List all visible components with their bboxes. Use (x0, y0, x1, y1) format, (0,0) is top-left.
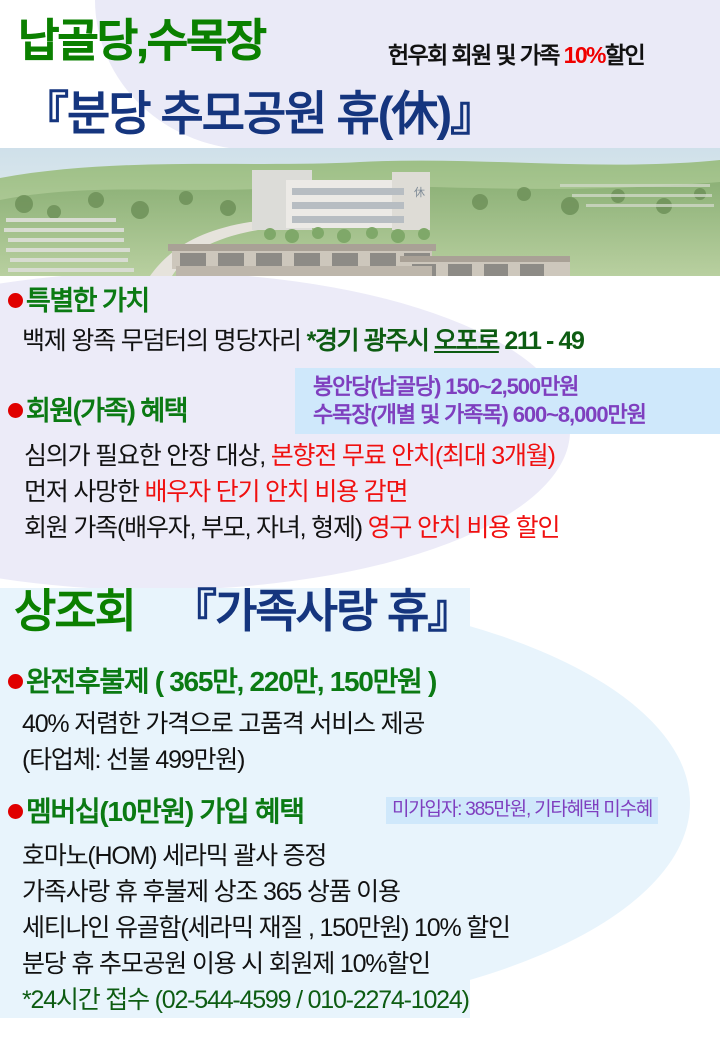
member-benefits-heading-row: 회원(가족) 혜택 (8, 398, 187, 425)
membership-heading-row: 멤버십(10만원) 가입 혜택 (8, 798, 304, 826)
membership-line: 세티나인 유골함(세라믹 재질 , 150만원) 10% 할인 (22, 912, 510, 945)
sangjo-title-navy: 『가족사랑 휴』 (171, 585, 471, 637)
price-box: 봉안당(납골당) 150~2,500만원 수목장(개별 및 가족목) 600~8… (295, 368, 720, 434)
bullet-dot-icon (8, 293, 23, 308)
section-membership: 멤버십(10만원) 가입 혜택 (8, 798, 304, 826)
benefit-text-black: 회원 가족(배우자, 부모, 자녀, 형제) (24, 514, 368, 542)
postpaid-heading: 완전후불제 ( 365만, 220만, 150만원 ) (26, 666, 436, 697)
benefit-text-red: 영구 안치 비용 할인 (368, 514, 560, 542)
badge-prefix: 헌우회 회원 및 가족 (388, 42, 564, 68)
contact-line[interactable]: *24시간 접수 (02-544-4599 / 010-2274-1024) (22, 984, 469, 1017)
bullet-dot-icon (8, 804, 23, 819)
bullet-dot-icon (8, 674, 23, 689)
sangjo-title-green: 상조회 (14, 585, 135, 637)
benefit-text-black: 먼저 사망한 (24, 478, 145, 506)
postpaid-line: (타업체: 선불 499만원) (22, 744, 244, 777)
badge-percent: 10% (564, 42, 605, 68)
benefit-text-black: 심의가 필요한 안장 대상, (24, 442, 271, 470)
flyer-page: 납골당,수목장 헌우회 회원 및 가족 10%할인 『분당 추모공원 휴(休)』 (0, 0, 720, 1040)
section-postpaid: 완전후불제 ( 365만, 220만, 150만원 ) (8, 668, 436, 696)
discount-badge: 헌우회 회원 및 가족 10%할인 (388, 36, 644, 70)
benefit-text-red: 본향전 무료 안치(최대 3개월) (271, 442, 555, 470)
special-value-heading-row: 특별한 가치 (8, 288, 149, 315)
benefit-text-red: 배우자 단기 안치 비용 감면 (145, 478, 408, 506)
bullet-dot-icon (8, 403, 23, 418)
special-value-text: 백제 왕족 무덤터의 명당자리 (22, 327, 301, 355)
member-benefit-row: 먼저 사망한 배우자 단기 안치 비용 감면 (24, 476, 407, 509)
member-benefit-row: 심의가 필요한 안장 대상, 본향전 무료 안치(최대 3개월) (24, 440, 555, 473)
badge-suffix: 할인 (605, 42, 644, 68)
postpaid-line: 40% 저렴한 가격으로 고품격 서비스 제공 (22, 708, 424, 741)
member-benefits-heading: 회원(가족) 혜택 (26, 396, 187, 426)
address-road: 오포로 (434, 327, 499, 355)
membership-heading: 멤버십(10만원) 가입 혜택 (26, 796, 304, 827)
membership-line: 호마노(HOM) 세라믹 괄사 증정 (22, 840, 326, 873)
special-value-heading: 특별한 가치 (26, 286, 149, 316)
member-benefit-row: 회원 가족(배우자, 부모, 자녀, 형제) 영구 안치 비용 할인 (24, 512, 559, 545)
page-title-line1: 납골당,수목장 (18, 18, 265, 63)
price-line-columbarium: 봉안당(납골당) 150~2,500만원 (313, 373, 720, 401)
memorial-park-photo: 休 (0, 148, 720, 276)
section-special-value: 특별한 가치 (8, 288, 149, 315)
address-star: *경기 광주시 (307, 327, 434, 355)
photo-illustration: 休 (0, 148, 720, 276)
address-number: 211 - 49 (499, 327, 584, 355)
page-title-line2: 『분당 추모공원 휴(休)』 (22, 90, 495, 137)
membership-line: 가족사랑 휴 후불제 상조 365 상품 이용 (22, 876, 400, 909)
membership-note: 미가입자: 385만원, 기타혜택 미수혜 (392, 800, 652, 821)
special-value-line: 백제 왕족 무덤터의 명당자리 *경기 광주시 오포로 211 - 49 (22, 325, 584, 358)
postpaid-heading-row: 완전후불제 ( 365만, 220만, 150만원 ) (8, 668, 436, 696)
membership-note-box: 미가입자: 385만원, 기타혜택 미수혜 (386, 797, 658, 824)
membership-line: 분당 휴 추모공원 이용 시 회원제 10%할인 (22, 948, 430, 981)
price-line-tree-burial: 수목장(개별 및 가족목) 600~8,000만원 (313, 401, 720, 429)
sangjo-title: 상조회『가족사랑 휴』 (14, 588, 471, 634)
svg-text:休: 休 (414, 186, 425, 199)
section-member-benefits: 회원(가족) 혜택 (8, 398, 187, 425)
